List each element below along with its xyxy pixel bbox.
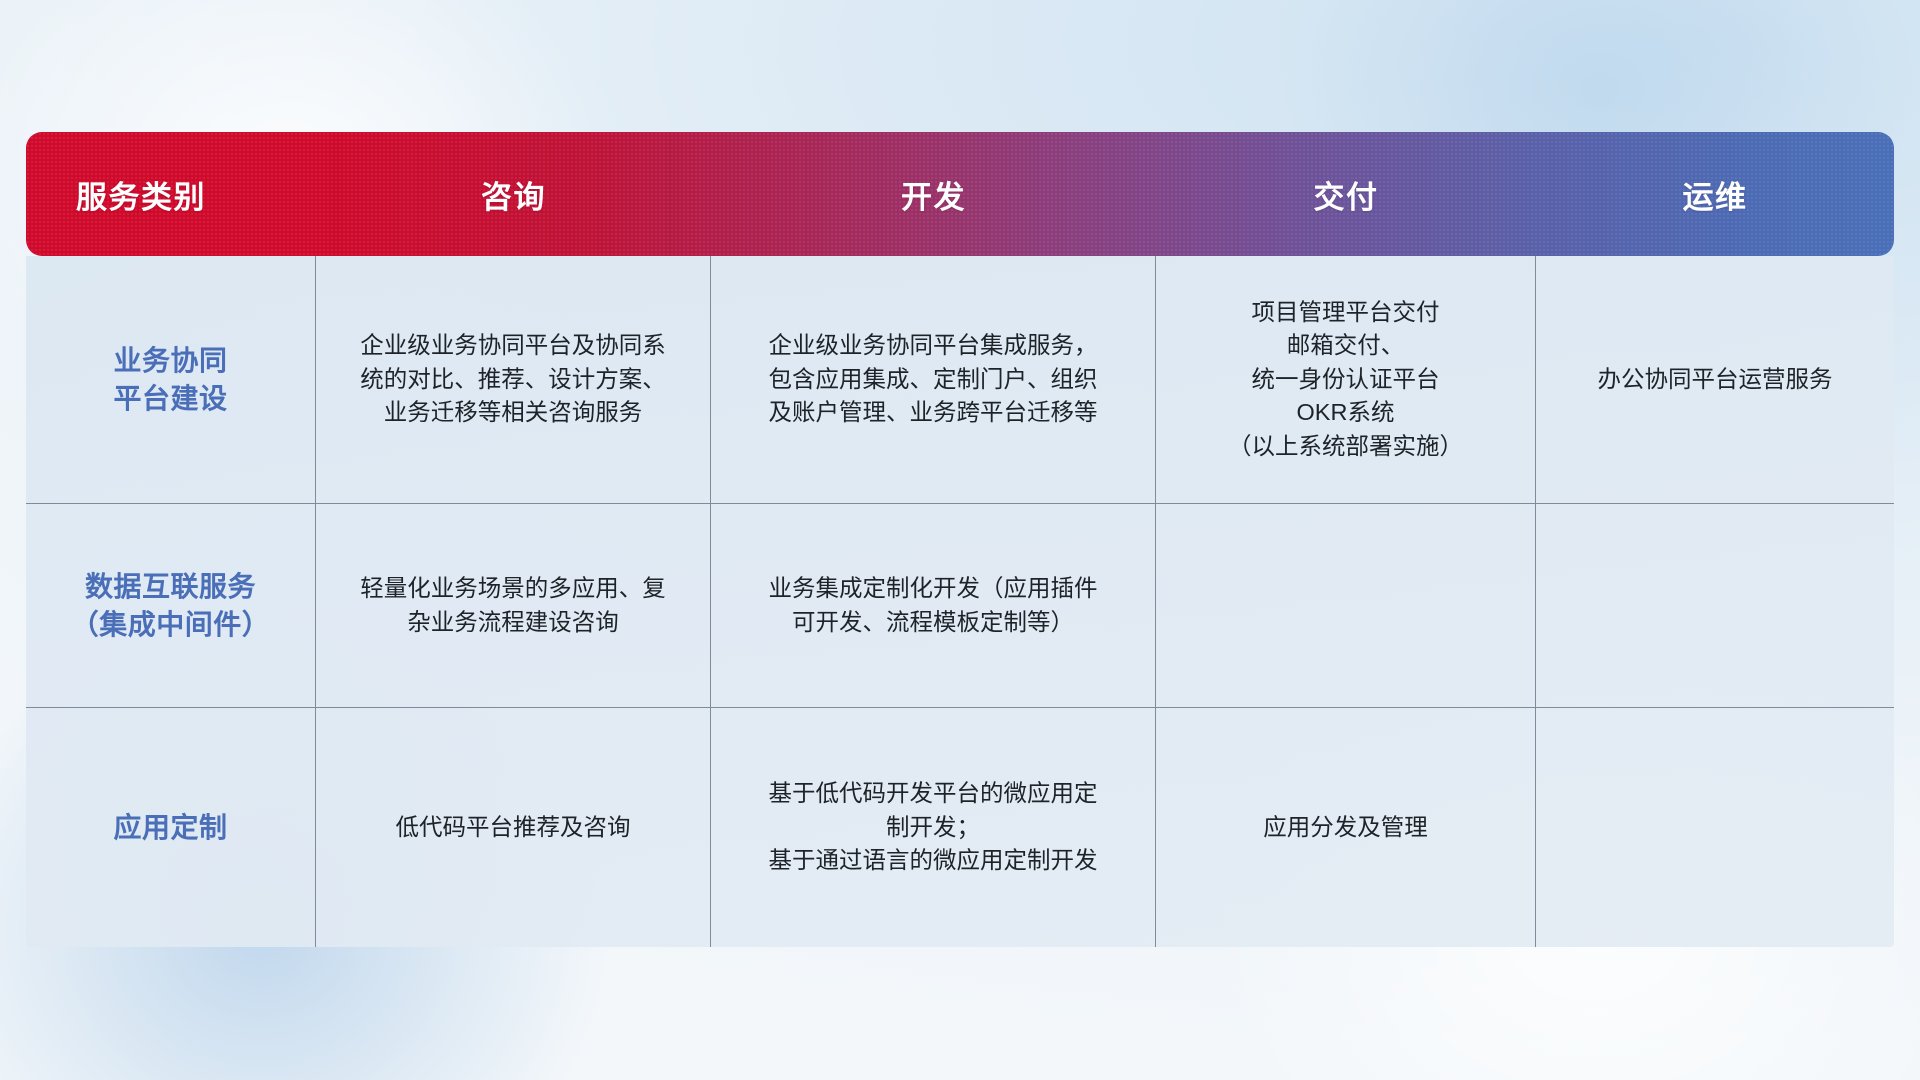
table-row: 数据互联服务 （集成中间件） 轻量化业务场景的多应用、复 杂业务流程建设咨询 业… [26,503,1894,707]
table-body: 业务协同 平台建设 企业级业务协同平台及协同系 统的对比、推荐、设计方案、 业务… [26,256,1894,947]
table-row: 业务协同 平台建设 企业级业务协同平台及协同系 统的对比、推荐、设计方案、 业务… [26,256,1894,503]
column-header-operations: 运维 [1536,132,1894,256]
cell-consulting-row0: 企业级业务协同平台及协同系 统的对比、推荐、设计方案、 业务迁移等相关咨询服务 [316,256,711,503]
column-header-consulting: 咨询 [316,132,711,256]
cell-development-row1: 业务集成定制化开发（应用插件 可开发、流程模板定制等） [711,504,1156,707]
table-row: 应用定制 低代码平台推荐及咨询 基于低代码开发平台的微应用定 制开发； 基于通过… [26,707,1894,947]
cell-development-row0: 企业级业务协同平台集成服务， 包含应用集成、定制门户、组织 及账户管理、业务跨平… [711,256,1156,503]
column-header-development: 开发 [711,132,1156,256]
cell-delivery-row1 [1156,504,1536,707]
cell-development-row2: 基于低代码开发平台的微应用定 制开发； 基于通过语言的微应用定制开发 [711,708,1156,947]
cell-delivery-row2: 应用分发及管理 [1156,708,1536,947]
cell-operations-row1 [1536,504,1894,707]
cell-consulting-row1: 轻量化业务场景的多应用、复 杂业务流程建设咨询 [316,504,711,707]
service-matrix-table: 服务类别 咨询 开发 交付 运维 业务协同 平台建设 企业级业务协同平台及协同系… [26,132,1894,947]
row-label-app-customization: 应用定制 [26,708,316,947]
column-header-category: 服务类别 [26,132,316,256]
cell-operations-row0: 办公协同平台运营服务 [1536,256,1894,503]
table-header-row: 服务类别 咨询 开发 交付 运维 [26,132,1894,256]
cell-delivery-row0: 项目管理平台交付 邮箱交付、 统一身份认证平台 OKR系统 （以上系统部署实施） [1156,256,1536,503]
column-header-delivery: 交付 [1156,132,1536,256]
cell-operations-row2 [1536,708,1894,947]
row-label-data-integration: 数据互联服务 （集成中间件） [26,504,316,707]
row-label-business-collaboration: 业务协同 平台建设 [26,256,316,503]
cell-consulting-row2: 低代码平台推荐及咨询 [316,708,711,947]
